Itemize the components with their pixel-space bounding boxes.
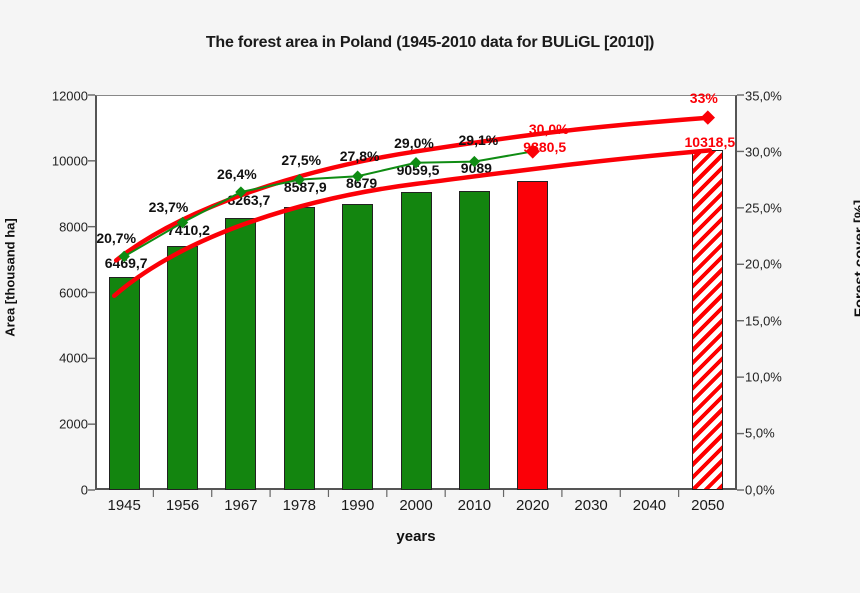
y2-tick-0: 0,0% — [745, 483, 775, 498]
y-tick-1: 2000 — [59, 417, 88, 432]
x-tick-2000: 2000 — [399, 497, 432, 514]
y-tick-6: 12000 — [52, 89, 88, 104]
percent-label-1945: 20,7% — [96, 230, 136, 246]
bar-2000 — [401, 192, 432, 490]
bar-1945 — [109, 277, 140, 490]
bar-label-2020: 9380,5 — [523, 139, 566, 155]
bar-label-1978: 8587,9 — [284, 179, 327, 195]
bar-1956 — [167, 246, 198, 490]
y-tick-3: 6000 — [59, 286, 88, 301]
x-tick-2040: 2040 — [633, 497, 666, 514]
x-tick-2050: 2050 — [691, 497, 724, 514]
bar-1990 — [342, 204, 373, 490]
y2-tick-6: 30,0% — [745, 145, 782, 160]
y-tick-0: 0 — [81, 483, 88, 498]
percent-label-2050: 33% — [690, 90, 718, 106]
x-tick-2030: 2030 — [574, 497, 607, 514]
bar-1967 — [225, 218, 256, 490]
percent-label-1990: 27,8% — [340, 148, 380, 164]
bar-label-1967: 8263,7 — [227, 192, 270, 208]
bar-2050 — [692, 150, 723, 490]
bar-label-1956: 7410,2 — [167, 222, 210, 238]
bar-1978 — [284, 207, 315, 490]
y-axis-right: 0,0% 5,0% 10,0% 15,0% 20,0% 25,0% 30,0% … — [745, 0, 855, 593]
y-tick-4: 8000 — [59, 220, 88, 235]
bar-label-2000: 9059,5 — [397, 162, 440, 178]
y-tick-5: 10000 — [52, 154, 88, 169]
x-tick-2010: 2010 — [458, 497, 491, 514]
y-tick-2: 4000 — [59, 351, 88, 366]
percent-label-2010: 29,1% — [459, 132, 499, 148]
y2-tick-2: 10,0% — [745, 370, 782, 385]
y2-tick-3: 15,0% — [745, 314, 782, 329]
percent-label-1956: 23,7% — [149, 199, 189, 215]
bar-label-2010: 9089 — [461, 160, 492, 176]
x-tick-1956: 1956 — [166, 497, 199, 514]
bar-label-1945: 6469,7 — [105, 255, 148, 271]
percent-label-1978: 27,5% — [281, 152, 321, 168]
y-axis-left-title: Area [thousand ha] — [3, 118, 18, 438]
y-axis-right-title: Forest cover [%] — [852, 99, 860, 419]
y2-tick-1: 5,0% — [745, 426, 775, 441]
chart-root: The forest area in Poland (1945-2010 dat… — [0, 0, 860, 593]
y2-tick-4: 20,0% — [745, 257, 782, 272]
x-tick-1945: 1945 — [107, 497, 140, 514]
x-tick-1978: 1978 — [283, 497, 316, 514]
chart-title: The forest area in Poland (1945-2010 dat… — [0, 34, 860, 52]
x-tick-1990: 1990 — [341, 497, 374, 514]
percent-label-2020: 30,0% — [529, 121, 569, 137]
x-axis-title: years — [95, 528, 737, 545]
x-tick-2020: 2020 — [516, 497, 549, 514]
y2-tick-5: 25,0% — [745, 201, 782, 216]
percent-label-2000: 29,0% — [394, 135, 434, 151]
x-tick-1967: 1967 — [224, 497, 257, 514]
bar-label-1990: 8679 — [346, 175, 377, 191]
bar-2010 — [459, 191, 490, 490]
bar-label-2050: 10318,5 — [685, 134, 736, 150]
bar-2020 — [517, 181, 548, 490]
percent-label-1967: 26,4% — [217, 166, 257, 182]
y2-tick-7: 35,0% — [745, 89, 782, 104]
